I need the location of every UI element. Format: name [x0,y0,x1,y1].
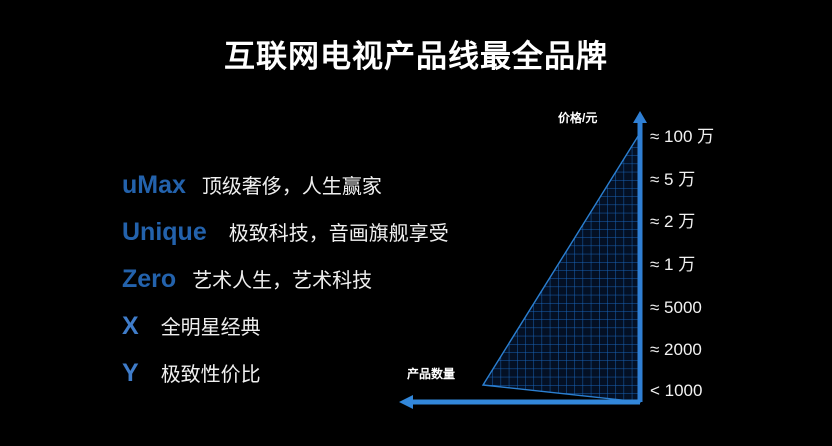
price-tick-2: ≈ 2 万 [650,212,695,232]
brand-name-y: Y [122,356,139,390]
brand-desc-zero: 艺术人生，艺术科技 [192,264,372,298]
brand-desc-x: 全明星经典 [161,311,261,345]
triangle-grid-lines [475,125,650,410]
price-tick-6: < 1000 [650,381,702,401]
price-tick-5: ≈ 2000 [650,340,702,360]
price-tick-3: ≈ 1 万 [650,255,695,275]
brand-name-umax: uMax [122,168,186,202]
y-axis-label: 价格/元 [558,109,597,126]
price-tick-1: ≈ 5 万 [650,170,695,190]
price-tick-0: ≈ 100 万 [650,127,714,147]
brand-desc-y: 极致性价比 [161,358,261,392]
brand-desc-umax: 顶级奢侈，人生赢家 [202,170,382,204]
price-tick-4: ≈ 5000 [650,298,702,318]
brand-name-x: X [122,309,139,343]
brand-name-unique: Unique [122,215,207,249]
price-tick-list: ≈ 100 万 ≈ 5 万 ≈ 2 万 ≈ 1 万 ≈ 5000 ≈ 2000 … [650,100,780,420]
x-axis-label: 产品数量 [407,365,455,382]
page-title: 互联网电视产品线最全品牌 [0,36,832,78]
brand-name-zero: Zero [122,262,176,296]
triangle-grid-area [475,125,650,410]
